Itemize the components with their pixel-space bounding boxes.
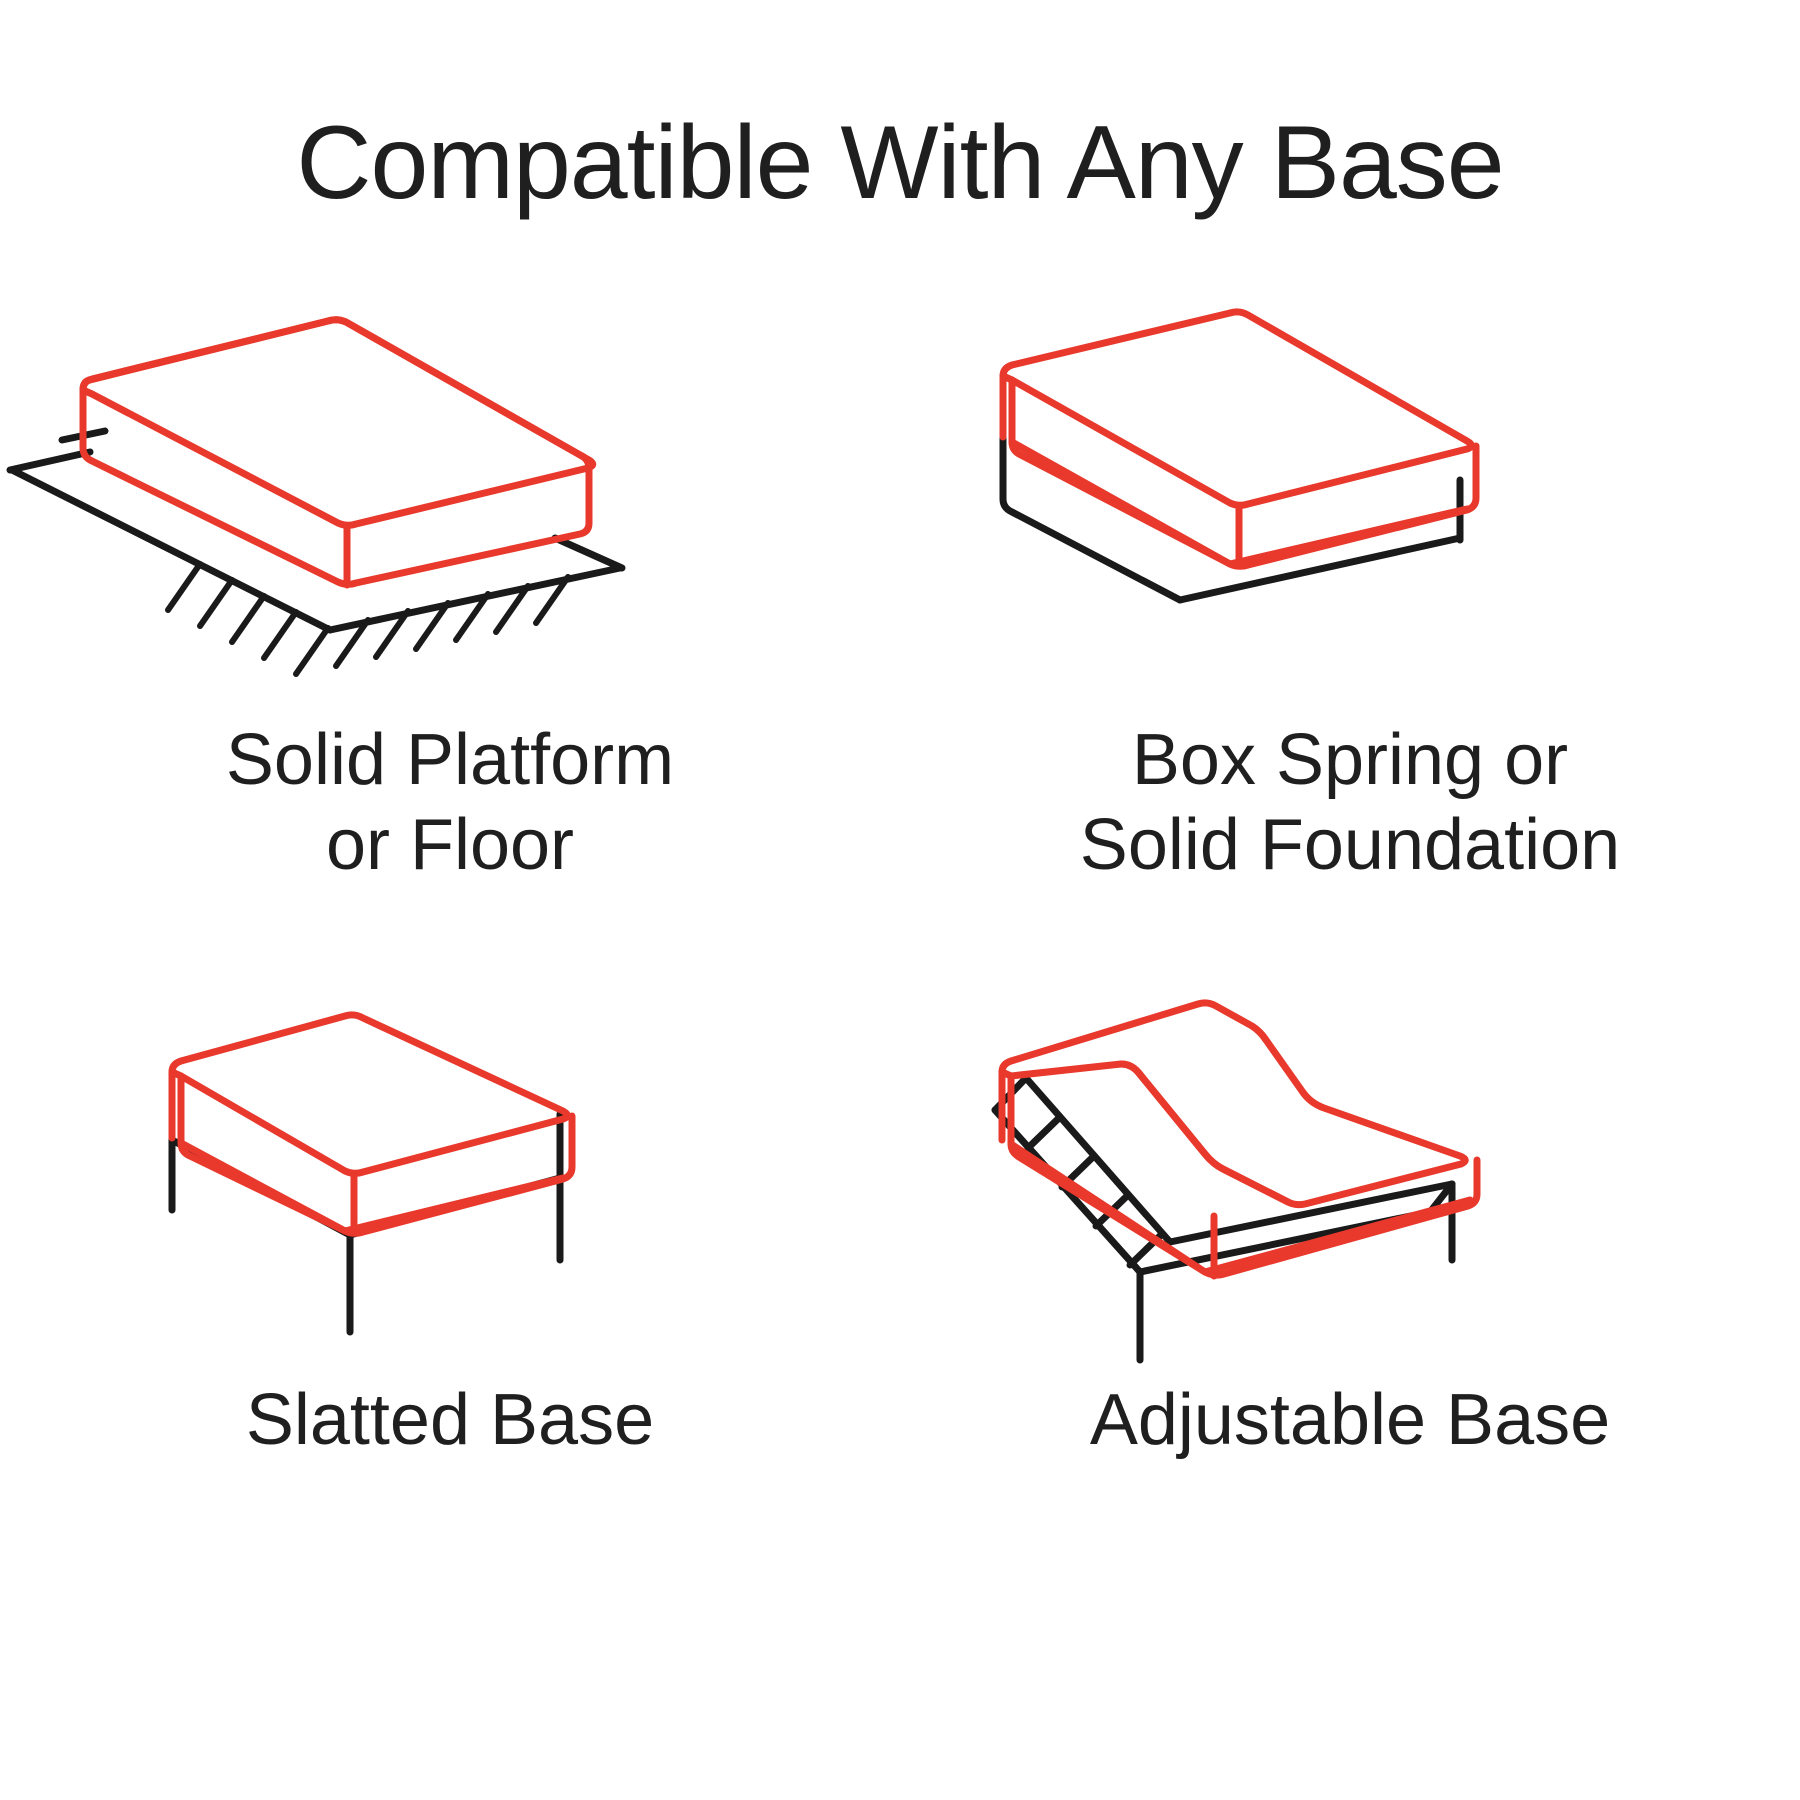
illustration-solid-platform	[0, 300, 900, 730]
illustration-box-spring	[900, 300, 1800, 730]
floor-line	[10, 431, 622, 630]
adjustable-frame	[995, 1078, 1452, 1360]
base-option-solid-platform: Solid Platform or Floor	[0, 300, 900, 960]
caption-box-spring: Box Spring or Solid Foundation	[900, 718, 1800, 888]
illustration-adjustable-base	[900, 960, 1800, 1390]
caption-slatted-base: Slatted Base	[0, 1378, 900, 1463]
infographic-page: Compatible With Any Base	[0, 0, 1800, 1800]
mattress-outline	[1003, 312, 1476, 566]
base-option-adjustable: Adjustable Base	[900, 960, 1800, 1620]
base-option-box-spring: Box Spring or Solid Foundation	[900, 300, 1800, 960]
page-title: Compatible With Any Base	[0, 108, 1800, 218]
illustration-slatted-base	[0, 960, 900, 1390]
mattress-outline	[172, 1015, 572, 1233]
caption-adjustable-base: Adjustable Base	[900, 1378, 1800, 1463]
base-option-slatted: Slatted Base	[0, 960, 900, 1620]
box-spring-outline	[1003, 437, 1460, 600]
mattress-outline	[1002, 1003, 1477, 1276]
caption-solid-platform: Solid Platform or Floor	[0, 718, 900, 888]
